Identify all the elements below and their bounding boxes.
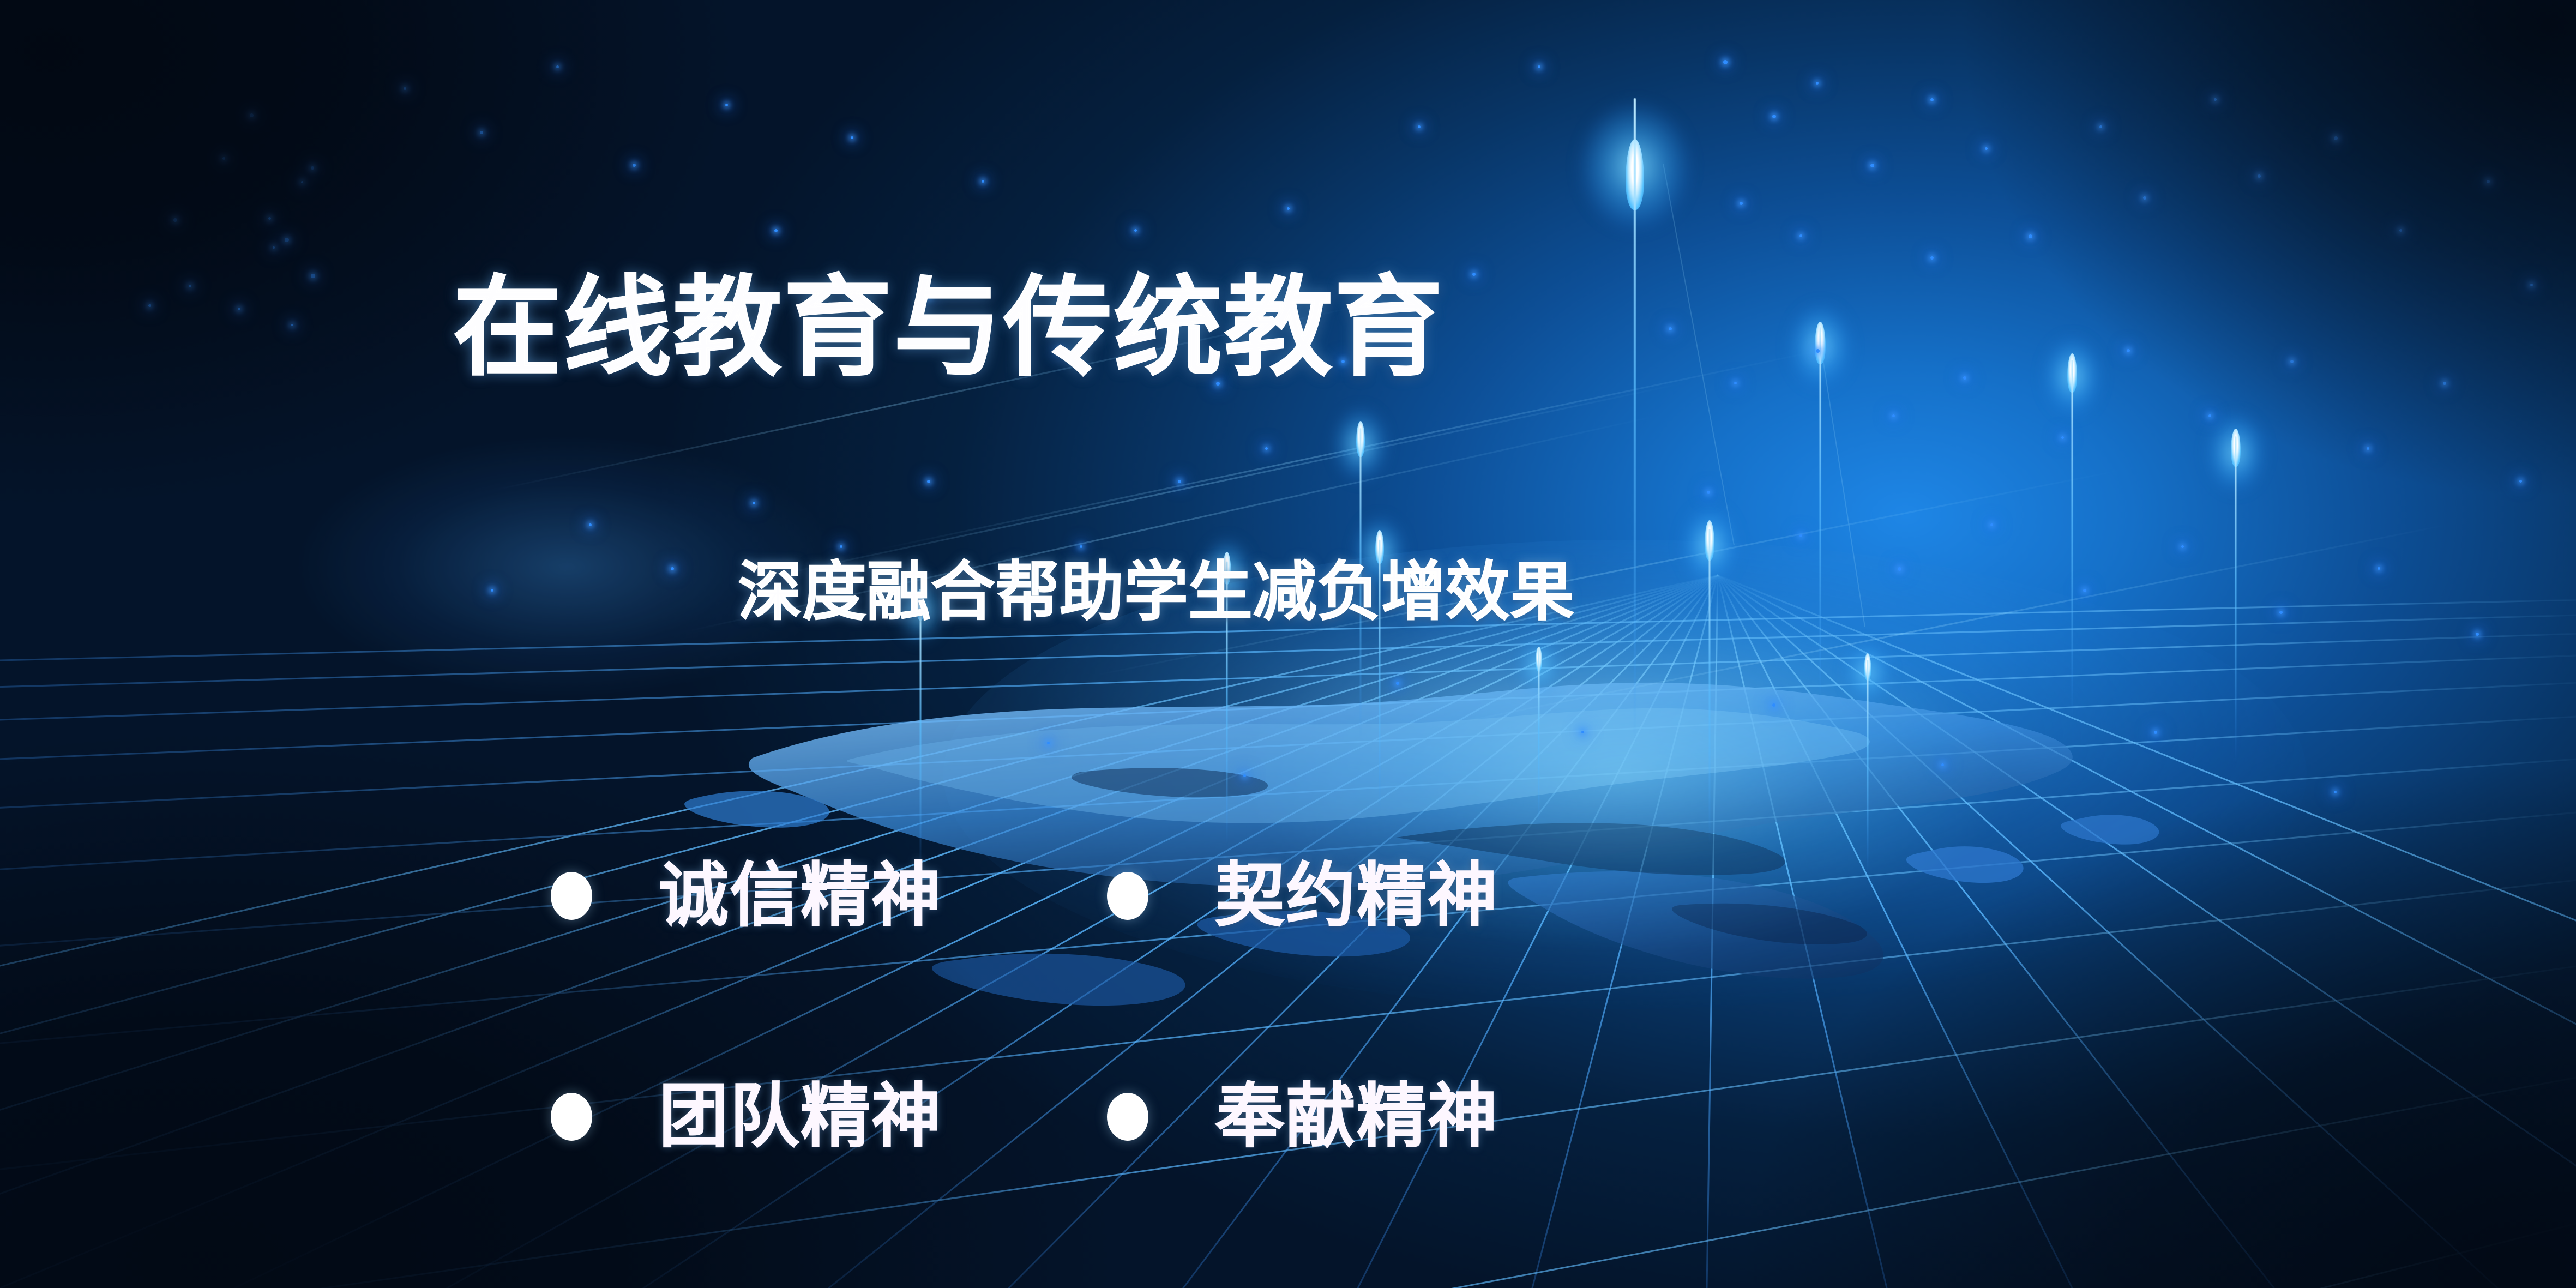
list-item[interactable]: 团队精神 — [551, 1082, 1107, 1152]
bullet-label: 奉献精神 — [1215, 1082, 1498, 1152]
list-item[interactable]: 契约精神 — [1107, 861, 1498, 931]
page-subtitle: 深度融合帮助学生减负增效果 — [738, 559, 1574, 624]
filled-circle-bullet-icon — [1107, 872, 1148, 920]
list-item[interactable]: 奉献精神 — [1107, 1082, 1498, 1152]
bullet-row-2: 团队精神 奉献精神 — [551, 1076, 1641, 1158]
filled-circle-bullet-icon — [1107, 1093, 1148, 1141]
slide-content: 在线教育与传统教育 深度融合帮助学生减负增效果 诚信精神 契约精神 团队精神 — [0, 0, 2576, 1288]
slide-canvas: 在线教育与传统教育 深度融合帮助学生减负增效果 诚信精神 契约精神 团队精神 — [0, 0, 2576, 1288]
page-title: 在线教育与传统教育 — [453, 274, 1444, 383]
filled-circle-bullet-icon — [551, 872, 592, 920]
bullet-label: 团队精神 — [659, 1082, 942, 1152]
bullet-row-1: 诚信精神 契约精神 — [551, 855, 1641, 937]
bullet-list: 诚信精神 契约精神 团队精神 奉献精神 — [551, 855, 1641, 1158]
bullet-label: 契约精神 — [1215, 861, 1498, 931]
filled-circle-bullet-icon — [551, 1093, 592, 1141]
list-item[interactable]: 诚信精神 — [551, 861, 1107, 931]
bullet-label: 诚信精神 — [659, 861, 942, 931]
